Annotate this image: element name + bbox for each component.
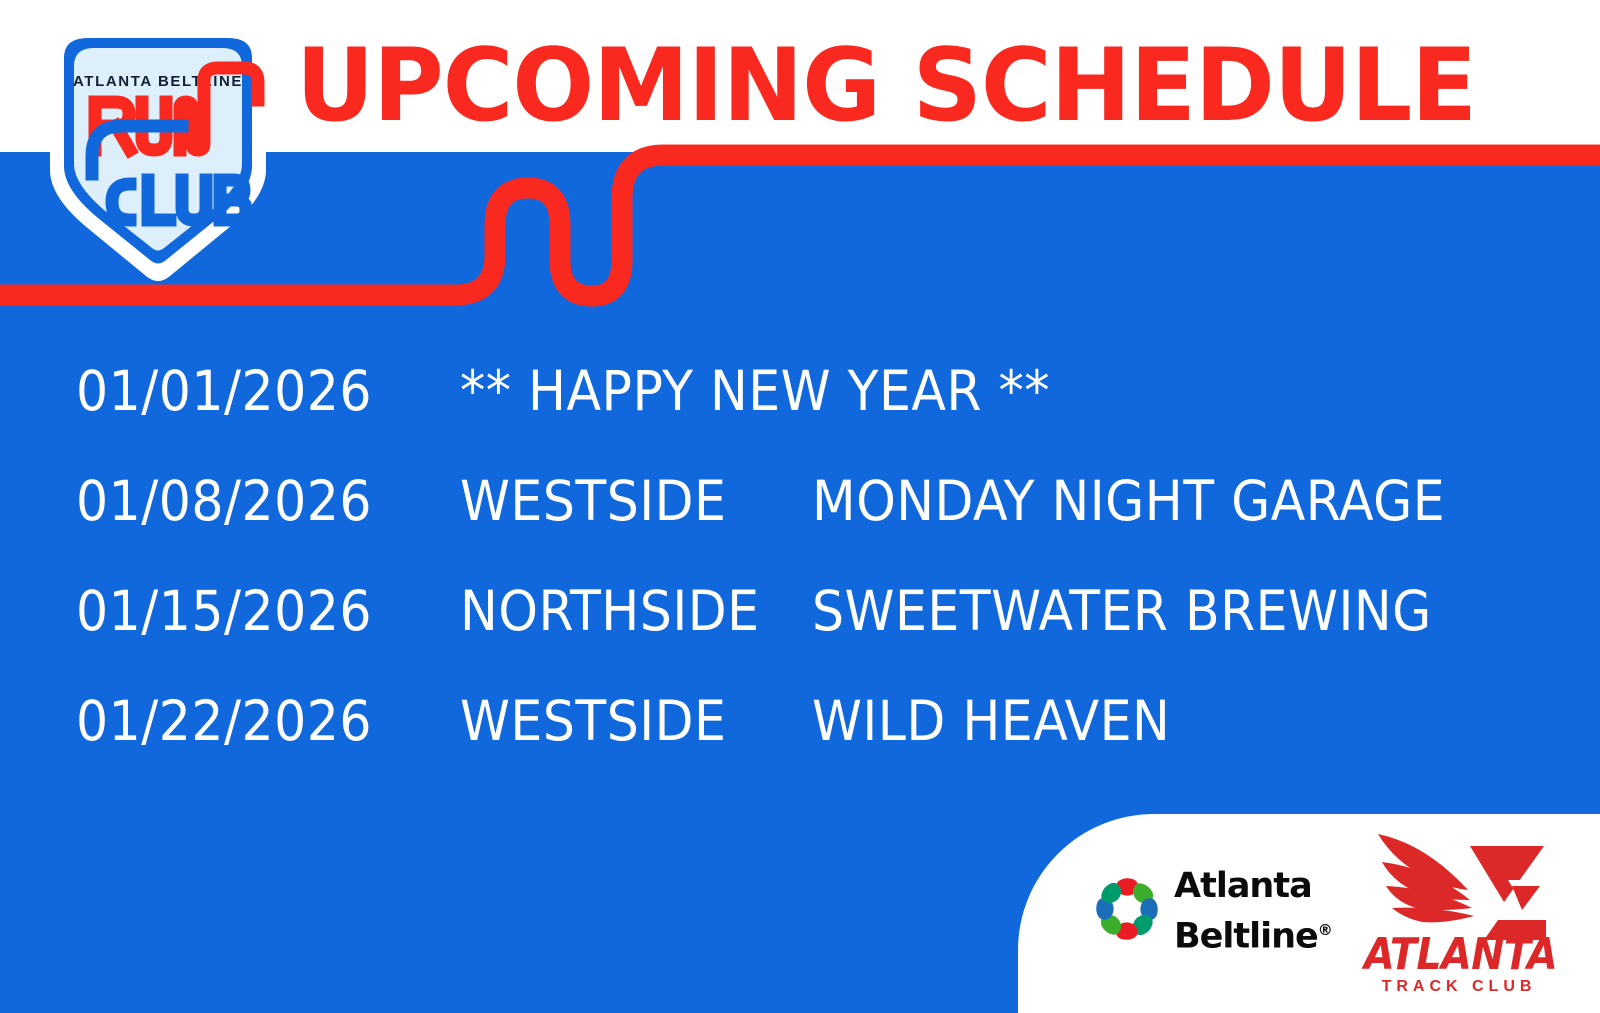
row-date: 01/01/2026 (76, 336, 372, 446)
schedule-row: 01/22/2026 WESTSIDE WILD HEAVEN (0, 666, 1600, 776)
row-date: 01/08/2026 (76, 446, 372, 556)
track-club-name: ATLANTA (1364, 932, 1554, 978)
row-side: WESTSIDE (460, 666, 726, 776)
page-title: UPCOMING SCHEDULE (296, 26, 1420, 144)
registered-mark-icon: ® (1318, 921, 1332, 939)
schedule-row: 01/15/2026 NORTHSIDE SWEETWATER BREWING (0, 556, 1600, 666)
row-venue: WILD HEAVEN (812, 666, 1170, 776)
poster-canvas: ATLANTA BELTLINE UPCOMING SCHEDUL (0, 0, 1600, 1013)
beltline-wordmark: Atlanta Beltline® (1174, 864, 1334, 956)
row-side: WESTSIDE (460, 446, 726, 556)
track-club-winged-a-icon (1372, 828, 1550, 940)
atlanta-beltline-logo: Atlanta Beltline® (1090, 858, 1330, 958)
sponsor-logos: Atlanta Beltline® (1018, 814, 1600, 1013)
row-date: 01/22/2026 (76, 666, 372, 776)
beltline-line2: Beltline (1174, 917, 1318, 957)
schedule-row: 01/01/2026 ** HAPPY NEW YEAR ** (0, 336, 1600, 446)
badge-eyebrow-text: ATLANTA BELTLINE (73, 73, 243, 90)
row-side: NORTHSIDE (460, 556, 760, 666)
row-venue: MONDAY NIGHT GARAGE (812, 446, 1445, 556)
row-date: 01/15/2026 (76, 556, 372, 666)
run-club-badge-logo: ATLANTA BELTLINE (30, 14, 286, 286)
row-note: ** HAPPY NEW YEAR ** (460, 336, 1050, 446)
schedule-list: 01/01/2026 ** HAPPY NEW YEAR ** 01/08/20… (0, 336, 1600, 776)
track-club-subtitle: TRACK CLUB (1364, 978, 1554, 996)
atlanta-track-club-logo: ATLANTA TRACK CLUB (1364, 828, 1554, 996)
beltline-line2-wrap: Beltline® (1174, 908, 1334, 959)
schedule-row: 01/08/2026 WESTSIDE MONDAY NIGHT GARAGE (0, 446, 1600, 556)
beltline-line1: Atlanta (1174, 864, 1334, 908)
row-venue: SWEETWATER BREWING (812, 556, 1432, 666)
beltline-pinwheel-icon (1090, 872, 1164, 946)
sponsor-panel: Atlanta Beltline® (1018, 814, 1600, 1013)
